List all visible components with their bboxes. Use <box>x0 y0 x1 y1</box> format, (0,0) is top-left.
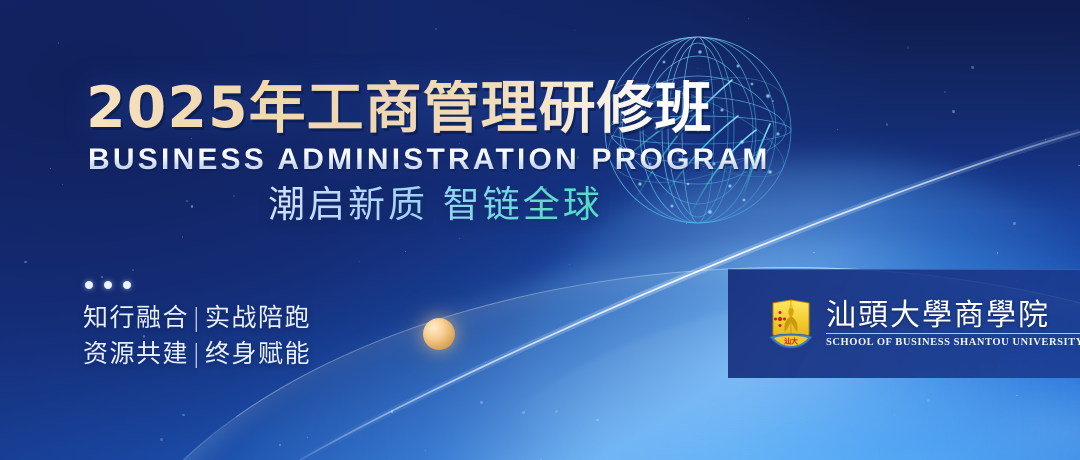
dot-icon-3 <box>123 281 131 289</box>
bullet-dots-decoration <box>85 281 131 289</box>
tagline-separator-1: | <box>189 303 205 332</box>
university-crest-icon: 汕大 <box>768 297 814 351</box>
logo-name-english: SCHOOL OF BUSINESS SHANTOU UNIVERSITY <box>826 333 1080 348</box>
logo-text-group: 汕頭大學商學院 SCHOOL OF BUSINESS SHANTOU UNIVE… <box>826 300 1080 349</box>
dot-icon-1 <box>85 281 93 289</box>
tagline-separator-2: | <box>189 339 205 368</box>
tagline-1-right: 实战陪跑 <box>205 303 311 332</box>
page-title-english: BUSINESS ADMINISTRATION PROGRAM <box>88 145 771 175</box>
university-logo-panel: 汕大 汕頭大學商學院 SCHOOL OF BUSINESS SHANTOU UN… <box>728 269 1080 378</box>
page-title-chinese: 2025年工商管理研修班 <box>86 80 713 137</box>
tagline-2-right: 终身赋能 <box>205 339 311 368</box>
tagline-2-left: 资源共建 <box>83 339 189 368</box>
tagline-line-1: 知行融合|实战陪跑 <box>83 300 311 336</box>
tagline-1-left: 知行融合 <box>83 303 189 332</box>
logo-name-chinese: 汕頭大學商學院 <box>826 300 1080 332</box>
promo-banner: 2025年工商管理研修班 BUSINESS ADMINISTRATION PRO… <box>0 0 1080 460</box>
tagline-block: 知行融合|实战陪跑 资源共建|终身赋能 <box>83 300 311 373</box>
dot-icon-2 <box>104 281 112 289</box>
banner-content: 2025年工商管理研修班 BUSINESS ADMINISTRATION PRO… <box>0 0 1080 460</box>
slogan-text: 潮启新质 智链全球 <box>268 186 603 223</box>
tagline-line-2: 资源共建|终身赋能 <box>83 336 311 372</box>
svg-text:汕大: 汕大 <box>784 337 798 346</box>
